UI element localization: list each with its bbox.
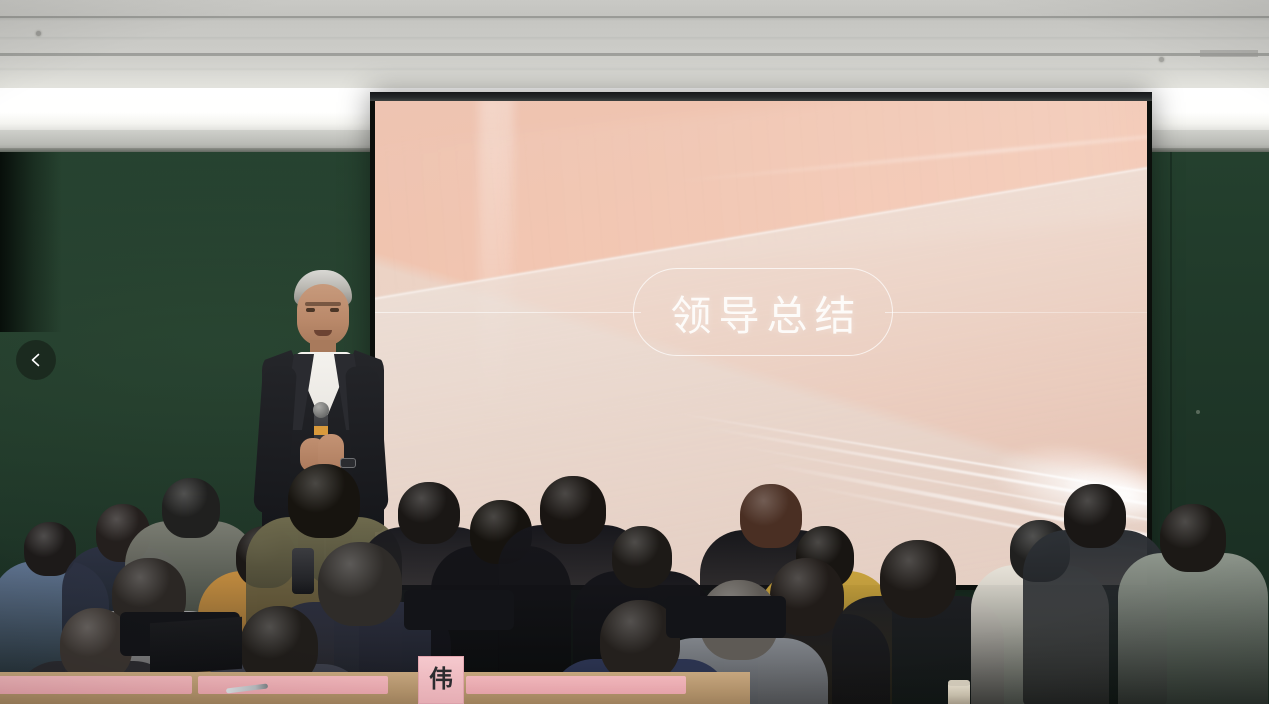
projection-screen-top-bar	[370, 92, 1152, 101]
audience-member-head	[288, 464, 360, 538]
audience-member-head	[880, 540, 956, 618]
presenter-brow	[305, 302, 341, 306]
audience-member-head	[612, 526, 672, 588]
ceiling	[0, 0, 1269, 96]
slide-guide-line-left	[375, 312, 641, 313]
ceiling-screw	[36, 31, 41, 36]
slide-title-pill: 领导总结	[633, 268, 893, 356]
chevron-left-icon	[28, 352, 44, 368]
slide-title: 领导总结	[664, 282, 863, 342]
ceiling-vent	[1200, 50, 1258, 57]
chair-back	[666, 596, 786, 638]
audience-member-head	[162, 478, 220, 538]
ceiling-seam	[0, 53, 1269, 56]
chair-back	[404, 590, 514, 630]
audience-member-head	[540, 476, 606, 544]
presenter-eye	[306, 308, 315, 312]
ceiling-seam	[0, 16, 1269, 18]
name-placard: 伟	[418, 656, 464, 704]
audience-member-head	[318, 542, 402, 626]
microphone-head	[313, 402, 329, 418]
presenter-eye	[330, 308, 339, 312]
pink-paper	[0, 676, 192, 694]
presenter-head	[297, 284, 349, 346]
pink-paper	[466, 676, 686, 694]
audience-member-head	[398, 482, 460, 544]
thermos-cap	[948, 680, 970, 686]
laptop	[150, 617, 242, 675]
audience-member-body	[1118, 553, 1268, 704]
wall-speck	[1196, 410, 1200, 414]
ceiling-screw	[1159, 57, 1164, 62]
audience-member-head	[740, 484, 802, 548]
presentation-photo: 领导总结 伟	[0, 0, 1269, 704]
audience-member-head	[1160, 504, 1226, 572]
audience-member-head	[1064, 484, 1126, 548]
slide-guide-line-right	[885, 312, 1147, 313]
water-bottle	[292, 548, 314, 594]
wall-shadow-left	[0, 152, 62, 332]
prev-image-button[interactable]	[16, 340, 56, 380]
placard-name: 伟	[429, 668, 453, 692]
